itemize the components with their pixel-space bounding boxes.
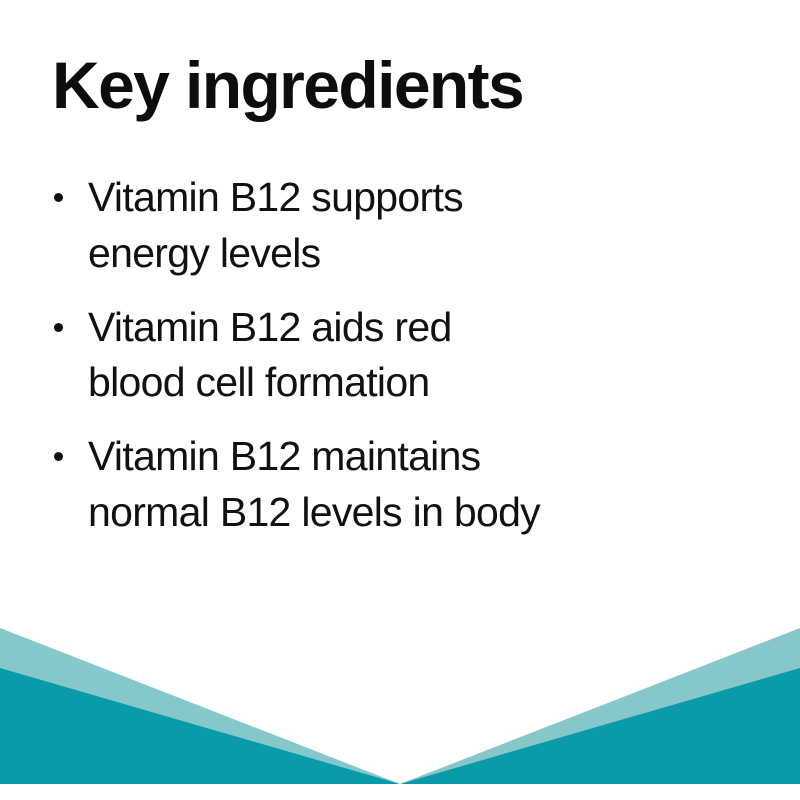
list-item-label: Vitamin B12 maintains normal B12 levels … bbox=[88, 433, 540, 535]
key-ingredients-card: Key ingredients Vitamin B12 supports ene… bbox=[0, 0, 800, 800]
page-title: Key ingredients bbox=[52, 52, 523, 119]
top-white-margin bbox=[0, 0, 800, 12]
list-item: Vitamin B12 maintains normal B12 levels … bbox=[52, 429, 552, 541]
ingredient-benefits-list: Vitamin B12 supports energy levels Vitam… bbox=[52, 170, 552, 559]
bullet-dot-icon bbox=[54, 323, 63, 332]
chevron-shapes bbox=[0, 600, 800, 800]
list-item: Vitamin B12 supports energy levels bbox=[52, 170, 552, 282]
list-item: Vitamin B12 aids red blood cell formatio… bbox=[52, 300, 552, 412]
list-item-label: Vitamin B12 supports energy levels bbox=[88, 174, 463, 276]
bottom-white-margin bbox=[0, 784, 800, 800]
list-item-label: Vitamin B12 aids red blood cell formatio… bbox=[88, 304, 452, 406]
text-block: Key ingredients Vitamin B12 supports ene… bbox=[0, 0, 560, 620]
bullet-dot-icon bbox=[54, 452, 63, 461]
teal-chevron-band bbox=[0, 600, 800, 800]
bullet-dot-icon bbox=[54, 193, 63, 202]
